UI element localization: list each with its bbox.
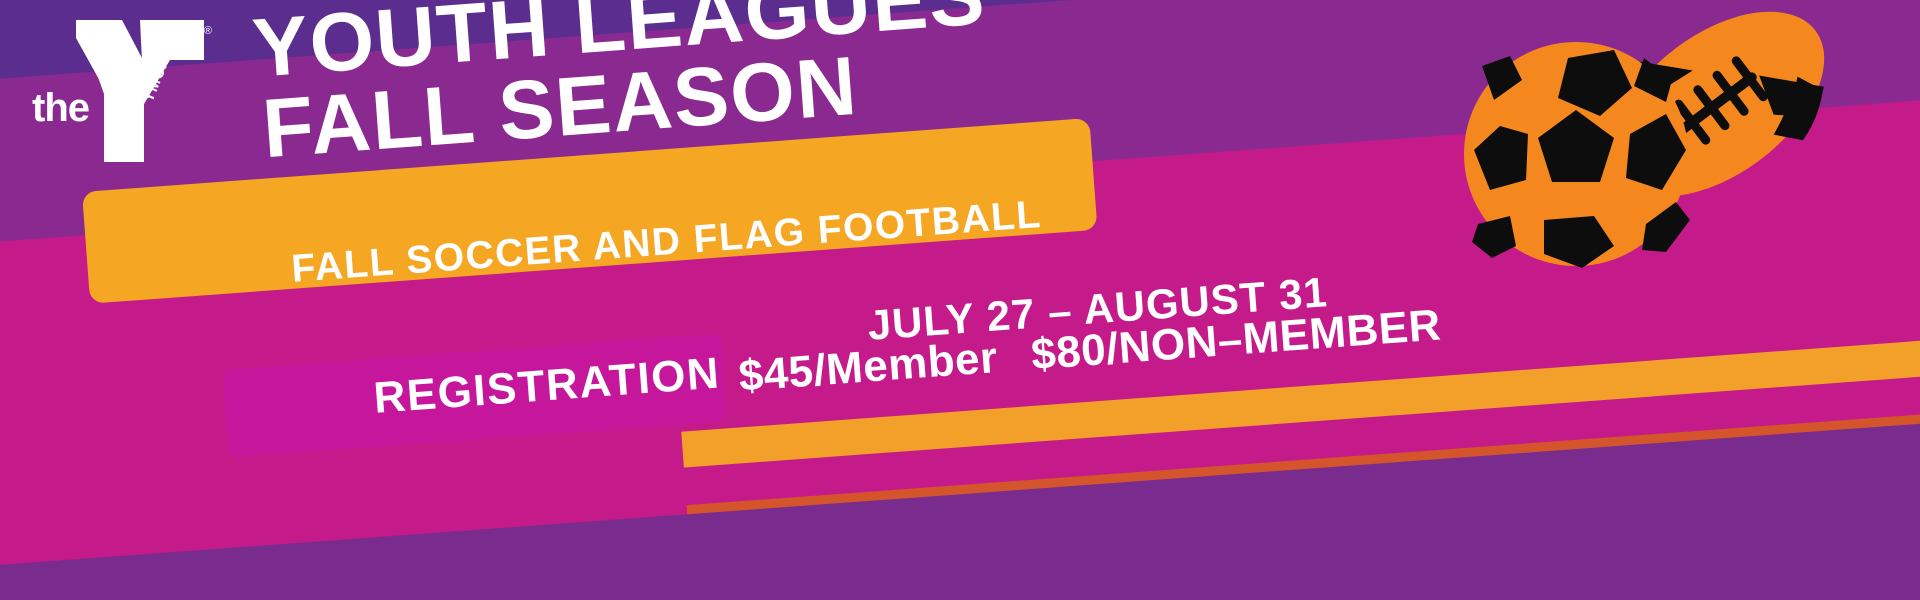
registered-trademark-icon: ® [204, 26, 212, 37]
ymca-y-icon [74, 18, 206, 164]
soccer-ball-icon [1464, 42, 1690, 268]
price-spacer [999, 369, 1033, 371]
ymca-logo: the ® YMCA [28, 14, 208, 164]
youth-leagues-promo-banner: the ® YMCA YOUTH LEAGUES FALL SEASON FAL… [0, 0, 1920, 600]
sports-balls-graphic [1418, 0, 1848, 284]
